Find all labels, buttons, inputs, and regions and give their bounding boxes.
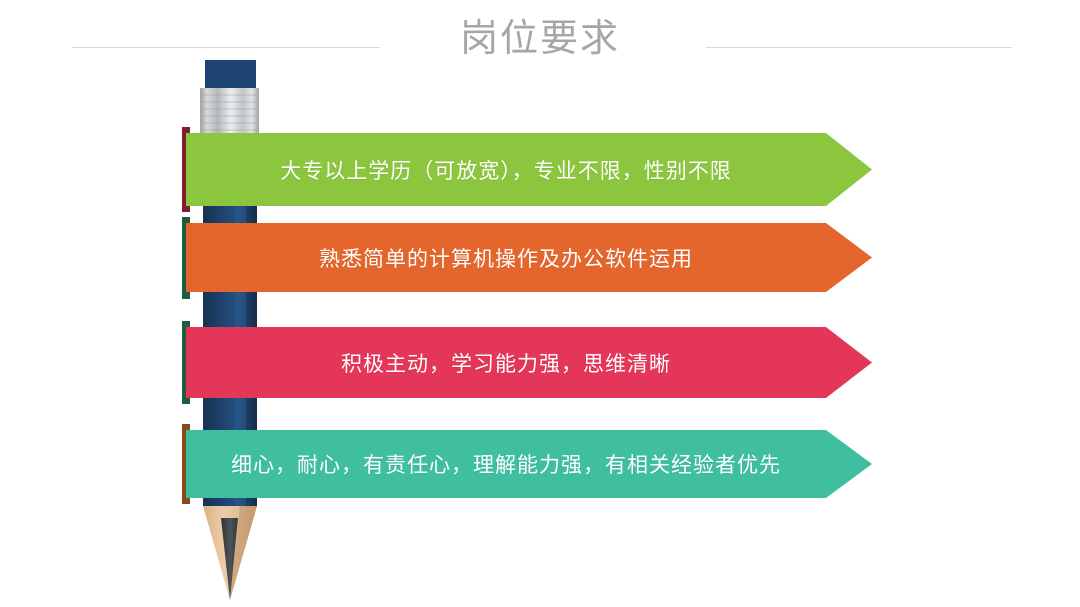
requirement-banner-3[interactable]: 积极主动，学习能力强，思维清晰 [186, 327, 872, 398]
banner-label-2: 熟悉简单的计算机操作及办公软件运用 [319, 243, 739, 273]
banner-label-3: 积极主动，学习能力强，思维清晰 [341, 348, 717, 378]
pencil-ferrule [200, 88, 259, 135]
slide-canvas: 岗位要求 [0, 0, 1080, 607]
requirement-banner-1[interactable]: 大专以上学历（可放宽），专业不限，性别不限 [186, 133, 872, 206]
pencil-wood-shade [230, 506, 257, 600]
pencil-illustration [0, 0, 1080, 607]
banner-label-1: 大专以上学历（可放宽），专业不限，性别不限 [280, 155, 778, 185]
requirement-banner-4[interactable]: 细心，耐心，有责任心，理解能力强，有相关经验者优先 [186, 430, 872, 498]
requirement-banner-2[interactable]: 熟悉简单的计算机操作及办公软件运用 [186, 223, 872, 292]
pencil-lead [221, 518, 238, 600]
pencil-wood-cone [203, 506, 257, 600]
pencil-ferrule-ridges [200, 95, 259, 130]
page-title: 岗位要求 [0, 14, 1080, 64]
slide-header: 岗位要求 [0, 0, 1080, 90]
banner-label-4: 细心，耐心，有责任心，理解能力强，有相关经验者优先 [231, 449, 827, 479]
